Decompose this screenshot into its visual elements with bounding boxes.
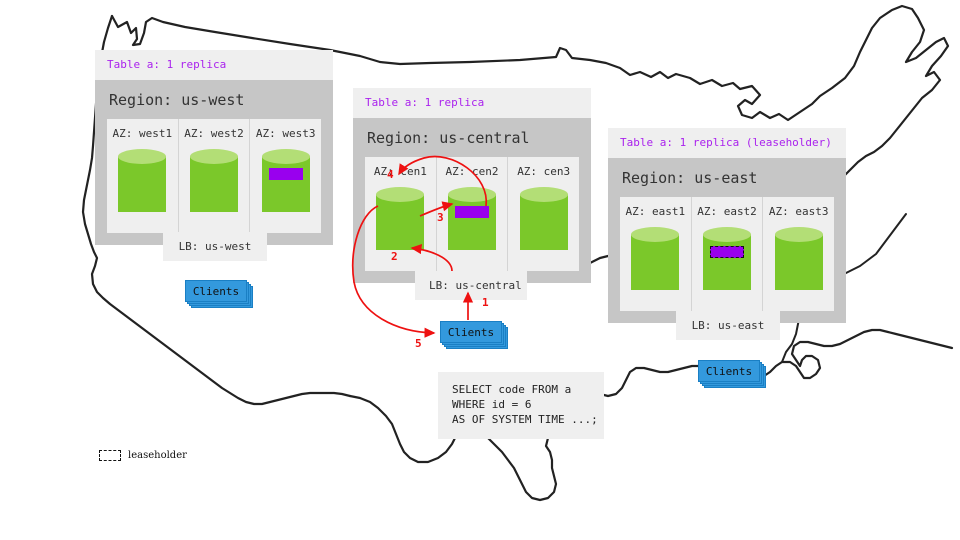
cylinder-side [448, 194, 496, 250]
diagram-canvas: Table a: 1 replica Region: us-west AZ: w… [0, 0, 960, 540]
az-label-east1: AZ: east1 [620, 205, 691, 218]
replica-marker-cen2[interactable] [455, 206, 489, 218]
clients-us-central[interactable]: Clients [440, 321, 502, 343]
az-cell-west1[interactable]: AZ: west1 [107, 119, 179, 233]
cylinder-side [703, 234, 751, 290]
load-balancer-us-west[interactable]: LB: us-west [163, 232, 267, 261]
region-panel-us-east[interactable]: Table a: 1 replica (leaseholder) Region:… [608, 128, 846, 323]
replica-marker-west3[interactable] [269, 168, 303, 180]
clients-label: Clients [193, 285, 239, 298]
clients-front-card[interactable]: Clients [185, 280, 247, 302]
load-balancer-us-east[interactable]: LB: us-east [676, 311, 780, 340]
cylinder-side [118, 156, 166, 212]
node-cylinder-cen1[interactable] [376, 187, 424, 257]
cylinder-top [775, 227, 823, 242]
az-label-east2: AZ: east2 [692, 205, 763, 218]
az-label-west2: AZ: west2 [179, 127, 250, 140]
leaseholder-swatch-icon [99, 450, 121, 461]
flow-step-number-5: 5 [415, 337, 422, 350]
table-replica-label-us-west: Table a: 1 replica [95, 50, 333, 80]
legend-leaseholder: leaseholder [99, 450, 187, 461]
table-replica-label-us-east: Table a: 1 replica (leaseholder) [608, 128, 846, 158]
clients-us-west[interactable]: Clients [185, 280, 247, 302]
region-title-us-central: Region: us-central [353, 118, 591, 157]
az-label-west1: AZ: west1 [107, 127, 178, 140]
cylinder-top [631, 227, 679, 242]
az-cell-west3[interactable]: AZ: west3 [250, 119, 321, 233]
region-body-us-east: Region: us-east AZ: east1 AZ: east2 [608, 158, 846, 323]
flow-step-number-3: 3 [437, 211, 444, 224]
region-panel-us-central[interactable]: Table a: 1 replica Region: us-central AZ… [353, 88, 591, 283]
clients-us-east[interactable]: Clients [698, 360, 760, 382]
cylinder-side [520, 194, 568, 250]
cylinder-top [703, 227, 751, 242]
az-row-us-east: AZ: east1 AZ: east2 [620, 197, 834, 311]
az-cell-east1[interactable]: AZ: east1 [620, 197, 692, 311]
az-row-us-west: AZ: west1 AZ: west2 AZ [107, 119, 321, 233]
node-cylinder-west2[interactable] [190, 149, 238, 219]
clients-front-card[interactable]: Clients [698, 360, 760, 382]
cylinder-side [775, 234, 823, 290]
az-cell-east2[interactable]: AZ: east2 [692, 197, 764, 311]
node-cylinder-west1[interactable] [118, 149, 166, 219]
region-body-us-central: Region: us-central AZ: cen1 AZ: cen2 [353, 118, 591, 283]
cylinder-top [520, 187, 568, 202]
node-cylinder-east2[interactable] [703, 227, 751, 297]
load-balancer-us-central[interactable]: LB: us-central [415, 271, 527, 300]
clients-front-card[interactable]: Clients [440, 321, 502, 343]
cylinder-side [376, 194, 424, 250]
node-cylinder-cen3[interactable] [520, 187, 568, 257]
cylinder-side [631, 234, 679, 290]
replica-marker-east2-leaseholder[interactable] [710, 246, 744, 258]
az-cell-cen3[interactable]: AZ: cen3 [508, 157, 579, 271]
cylinder-top [448, 187, 496, 202]
flow-step-number-2: 2 [391, 250, 398, 263]
region-title-us-west: Region: us-west [95, 80, 333, 119]
az-label-cen1: AZ: cen1 [365, 165, 436, 178]
node-cylinder-west3[interactable] [262, 149, 310, 219]
sql-query-box: SELECT code FROM a WHERE id = 6 AS OF SY… [438, 372, 604, 439]
region-body-us-west: Region: us-west AZ: west1 AZ: west2 [95, 80, 333, 245]
region-title-us-east: Region: us-east [608, 158, 846, 197]
node-cylinder-east1[interactable] [631, 227, 679, 297]
clients-label: Clients [706, 365, 752, 378]
table-replica-label-us-central: Table a: 1 replica [353, 88, 591, 118]
cylinder-side [190, 156, 238, 212]
node-cylinder-east3[interactable] [775, 227, 823, 297]
region-panel-us-west[interactable]: Table a: 1 replica Region: us-west AZ: w… [95, 50, 333, 245]
cylinder-side [262, 156, 310, 212]
flow-step-number-4: 4 [387, 168, 394, 181]
cylinder-top [118, 149, 166, 164]
az-label-cen2: AZ: cen2 [437, 165, 508, 178]
legend-label: leaseholder [128, 450, 187, 461]
az-cell-east3[interactable]: AZ: east3 [763, 197, 834, 311]
clients-label: Clients [448, 326, 494, 339]
cylinder-top [376, 187, 424, 202]
az-cell-cen2[interactable]: AZ: cen2 [437, 157, 509, 271]
az-cell-west2[interactable]: AZ: west2 [179, 119, 251, 233]
az-label-cen3: AZ: cen3 [508, 165, 579, 178]
az-cell-cen1[interactable]: AZ: cen1 [365, 157, 437, 271]
flow-step-number-1: 1 [482, 296, 489, 309]
cylinder-top [190, 149, 238, 164]
az-label-west3: AZ: west3 [250, 127, 321, 140]
node-cylinder-cen2[interactable] [448, 187, 496, 257]
cylinder-top [262, 149, 310, 164]
az-label-east3: AZ: east3 [763, 205, 834, 218]
